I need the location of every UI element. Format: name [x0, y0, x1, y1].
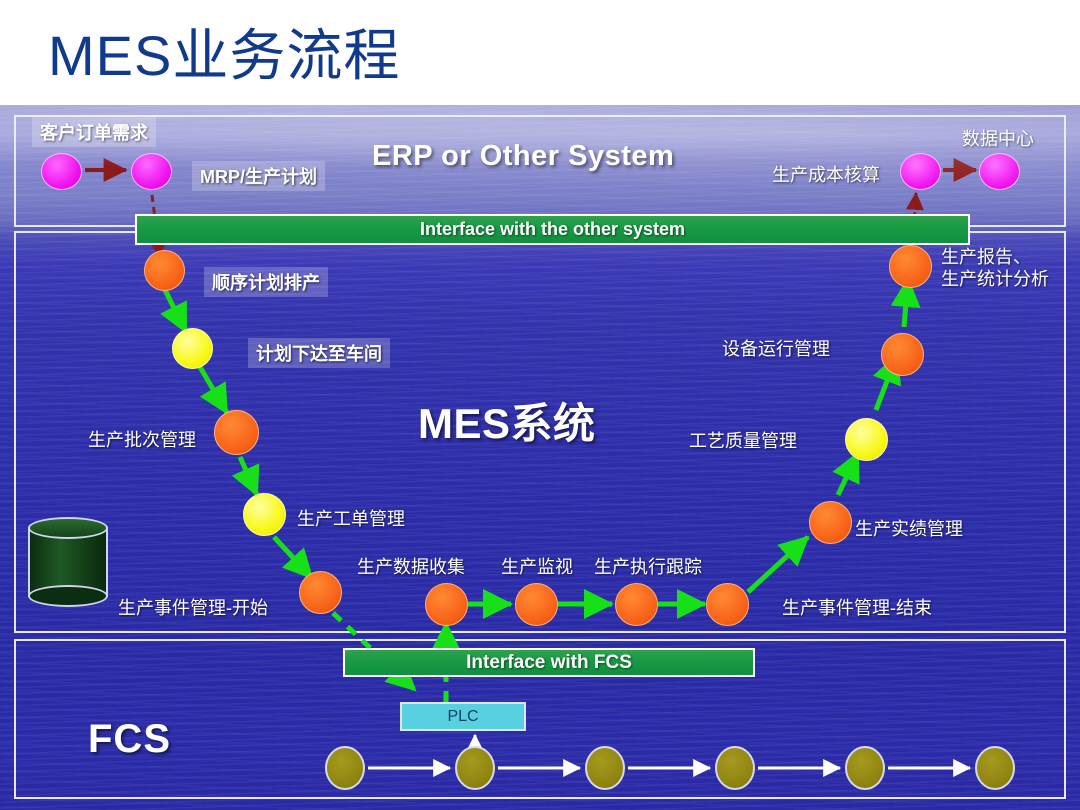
page-title: MES业务流程: [48, 24, 400, 88]
label-equipment-ops: 设备运行管理: [722, 335, 830, 361]
slide-root: MES业务流程: [0, 0, 1080, 810]
label-production-monitor: 生产监视: [501, 553, 573, 579]
fcs-caption: FCS: [88, 717, 171, 762]
erp-caption: ERP or Other System: [372, 140, 674, 173]
label-execution-tracking: 生产执行跟踪: [594, 553, 702, 579]
node-data-collection[interactable]: [425, 583, 468, 626]
label-customer-order: 客户订单需求: [32, 117, 156, 147]
label-data-center: 数据中心: [962, 125, 1034, 151]
diagram-canvas: ERP or Other System 客户订单需求 MRP/生产计划 生产成本…: [0, 105, 1080, 810]
database-bottom: [28, 585, 108, 607]
node-work-order[interactable]: [243, 493, 286, 536]
label-release-to-shop: 计划下达至车间: [248, 338, 390, 368]
fcs-device-6[interactable]: [975, 746, 1015, 790]
node-production-monitor[interactable]: [515, 583, 558, 626]
label-scheduling: 顺序计划排产: [204, 267, 328, 297]
node-execution-tracking[interactable]: [615, 583, 658, 626]
node-production-result[interactable]: [809, 501, 852, 544]
customer-order-node[interactable]: [41, 153, 82, 190]
label-cost-accounting: 生产成本核算: [772, 161, 880, 187]
plc-box[interactable]: PLC: [400, 702, 526, 731]
label-event-start: 生产事件管理-开始: [118, 594, 268, 620]
label-batch-mgmt: 生产批次管理: [88, 426, 196, 452]
label-production-result: 生产实绩管理: [855, 515, 963, 541]
fcs-device-1[interactable]: [325, 746, 365, 790]
label-production-report: 生产报告、 生产统计分析: [941, 246, 1049, 290]
cost-accounting-node[interactable]: [900, 153, 941, 190]
mrp-plan-node[interactable]: [131, 153, 172, 190]
fcs-device-5[interactable]: [845, 746, 885, 790]
label-data-collection: 生产数据收集: [357, 553, 465, 579]
node-production-report[interactable]: [889, 245, 932, 288]
node-event-start[interactable]: [299, 571, 342, 614]
node-event-end[interactable]: [706, 583, 749, 626]
fcs-device-2[interactable]: [455, 746, 495, 790]
node-release-to-shop[interactable]: [172, 328, 213, 369]
data-center-node[interactable]: [979, 153, 1020, 190]
node-equipment-ops[interactable]: [881, 333, 924, 376]
label-work-order: 生产工单管理: [297, 505, 405, 531]
database-top: [28, 517, 108, 539]
mes-caption: MES系统: [418, 390, 596, 451]
node-process-quality[interactable]: [845, 418, 888, 461]
node-scheduling[interactable]: [144, 250, 185, 291]
fcs-device-3[interactable]: [585, 746, 625, 790]
fcs-device-4[interactable]: [715, 746, 755, 790]
database-cylinder-icon: [28, 517, 108, 607]
node-batch-mgmt[interactable]: [214, 410, 259, 455]
interface-with-fcs-bar[interactable]: Interface with FCS: [343, 648, 755, 677]
label-event-end: 生产事件管理-结束: [782, 594, 932, 620]
label-process-quality: 工艺质量管理: [689, 427, 797, 453]
label-mrp-plan: MRP/生产计划: [192, 161, 325, 191]
interface-with-other-system-bar[interactable]: Interface with the other system: [135, 214, 970, 245]
